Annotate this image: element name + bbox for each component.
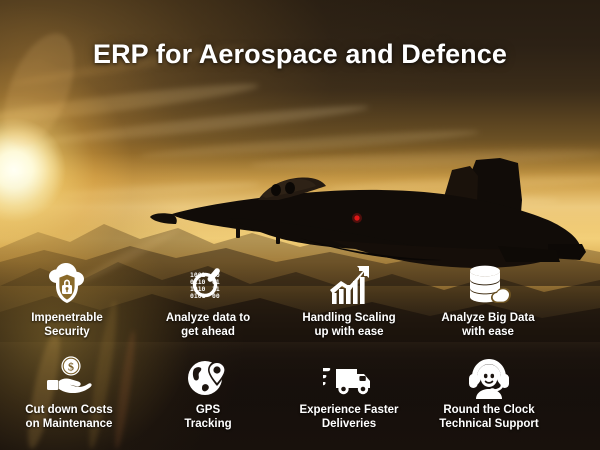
feature-item-bigdata[interactable]: Analyze Big Data with ease — [413, 262, 563, 339]
feature-grid: Impenetrable Security 1001 0110 1010 010… — [0, 262, 600, 450]
globe-pin-icon — [133, 354, 283, 400]
feature-item-support[interactable]: Round the Clock Technical Support — [414, 354, 564, 431]
feature-label: Impenetrable Security — [0, 311, 142, 339]
database-cloud-icon — [413, 262, 563, 308]
feature-label: Handling Scaling up with ease — [274, 311, 424, 339]
slide-canvas: ERP for Aerospace and Defence — [0, 0, 600, 450]
feature-label: Round the Clock Technical Support — [414, 403, 564, 431]
feature-label: Cut down Costs on Maintenance — [0, 403, 144, 431]
feature-label: Analyze Big Data with ease — [413, 311, 563, 339]
feature-item-security[interactable]: Impenetrable Security — [0, 262, 142, 339]
feature-item-analyze[interactable]: 1001 0110 1010 0101 10 01 11 00 Analyze … — [133, 262, 283, 339]
hand-coin-icon: $ — [0, 354, 144, 400]
svg-text:$: $ — [68, 360, 74, 374]
headset-agent-icon — [414, 354, 564, 400]
magnifier-binary-icon: 1001 0110 1010 0101 10 01 11 00 — [133, 262, 283, 308]
growth-chart-icon — [274, 262, 424, 308]
feature-item-scaling[interactable]: Handling Scaling up with ease — [274, 262, 424, 339]
feature-label: Analyze data to get ahead — [133, 311, 283, 339]
feature-item-costs[interactable]: $ Cut down Costs on Maintenance — [0, 354, 144, 431]
cloud-shield-lock-icon — [0, 262, 142, 308]
feature-item-delivery[interactable]: Experience Faster Deliveries — [274, 354, 424, 431]
feature-item-gps[interactable]: GPS Tracking — [133, 354, 283, 431]
delivery-truck-icon — [274, 354, 424, 400]
feature-label: GPS Tracking — [133, 403, 283, 431]
feature-label: Experience Faster Deliveries — [274, 403, 424, 431]
page-title: ERP for Aerospace and Defence — [0, 39, 600, 70]
